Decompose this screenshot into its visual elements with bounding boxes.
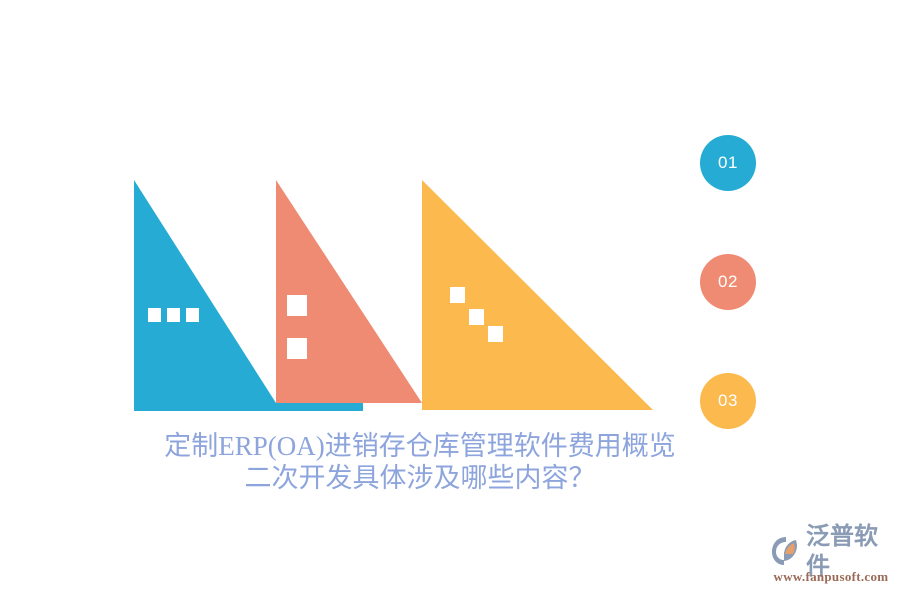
page-title-line-2: 二次开发具体涉及哪些内容？ — [60, 462, 780, 494]
page-title-line-1: 定制ERP(OA)进销存仓库管理软件费用概览 — [60, 430, 780, 462]
blue-triangle — [134, 180, 363, 410]
brand-logo-url: www.fanpusoft.com — [770, 569, 892, 585]
step-circle-02-label: 02 — [718, 272, 738, 292]
salmon-marker-square — [287, 295, 307, 316]
step-circle-03[interactable]: 03 — [700, 373, 756, 429]
salmon-marker-square — [287, 338, 307, 359]
blue-marker-square — [167, 308, 180, 322]
fanpu-logo-icon — [770, 535, 804, 567]
blue-marker-square — [186, 308, 199, 322]
step-circle-02[interactable]: 02 — [700, 254, 756, 310]
page-title: 定制ERP(OA)进销存仓库管理软件费用概览 二次开发具体涉及哪些内容？ — [60, 430, 780, 494]
salmon-triangle — [276, 180, 422, 403]
brand-logo-row: 泛普软件 — [770, 534, 892, 568]
triangle-illustration — [0, 0, 900, 600]
orange-marker-square — [469, 309, 484, 325]
orange-marker-square — [450, 287, 465, 303]
orange-marker-square — [488, 326, 503, 342]
brand-logo[interactable]: 泛普软件 www.fanpusoft.com — [770, 534, 892, 588]
step-circle-03-label: 03 — [718, 391, 738, 411]
slide-canvas: 01 02 03 定制ERP(OA)进销存仓库管理软件费用概览 二次开发具体涉及… — [0, 0, 900, 600]
step-circle-01-label: 01 — [718, 153, 738, 173]
step-circle-01[interactable]: 01 — [700, 135, 756, 191]
orange-triangle — [422, 180, 653, 410]
blue-triangle-body — [134, 180, 276, 403]
blue-triangle-base-strip — [134, 403, 363, 411]
blue-marker-square — [148, 308, 161, 322]
